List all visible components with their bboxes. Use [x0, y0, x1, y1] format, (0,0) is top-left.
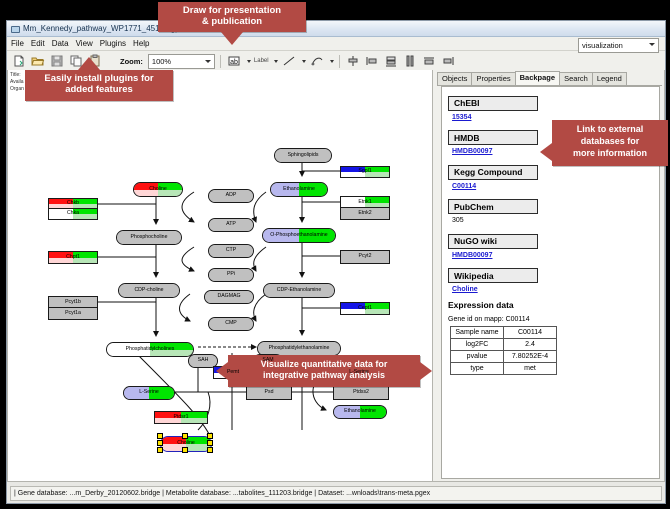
table-cell: type: [451, 363, 504, 375]
node-label: CDP-choline: [134, 288, 163, 293]
new-file-icon[interactable]: [11, 53, 27, 69]
metabolite-node-sphingolipids[interactable]: Sphingolipids: [274, 148, 332, 163]
resize-handle[interactable]: [207, 440, 213, 446]
expression-data-title: Expression data: [448, 300, 659, 310]
chevron-down-icon[interactable]: [274, 60, 278, 63]
zoom-label: Zoom:: [120, 57, 143, 66]
metabolite-node-ethanolamine[interactable]: Ethanolamine: [270, 182, 328, 197]
resize-handle[interactable]: [207, 447, 213, 453]
chevron-down-icon: [649, 43, 655, 46]
node-label: O-Phosphoethanolamine: [270, 233, 327, 238]
node-label: Choline: [177, 441, 195, 446]
node-label: PPi: [227, 272, 235, 277]
node-label: SAM: [262, 358, 273, 363]
open-folder-icon[interactable]: [30, 53, 46, 69]
node-label: Pcyt1a: [65, 311, 81, 316]
metabolite-node-choline[interactable]: Choline: [133, 182, 183, 197]
table-cell: 2.4: [504, 339, 557, 351]
align-right-icon[interactable]: [440, 53, 456, 69]
metabolite-node-phosphatidylcholines[interactable]: Phosphatidylcholines: [106, 342, 194, 357]
chevron-down-icon: [205, 60, 211, 63]
callout-draw-arrow: [221, 32, 243, 45]
tab-search[interactable]: Search: [559, 72, 593, 86]
status-bar: | Gene database: ...m_Derby_20120602.bri…: [7, 483, 665, 503]
metabolite-node-cmp[interactable]: CMP: [208, 317, 254, 331]
callout-link-line1: Link to external: [577, 124, 644, 134]
callout-plugins-line2: added features: [65, 84, 133, 95]
backpage-value-3: 305: [452, 217, 659, 224]
callout-draw-line2: & publication: [202, 16, 262, 27]
table-cell: 7.80252E-4: [504, 351, 557, 363]
info-title-label: Title:: [10, 72, 24, 79]
callout-plugins: Easily install plugins for added feature…: [25, 70, 173, 101]
metabolite-node-ppi[interactable]: PPi: [208, 268, 254, 282]
tab-backpage[interactable]: Backpage: [515, 71, 560, 86]
text-box-icon[interactable]: ab: [226, 53, 242, 69]
status-text: | Gene database: ...m_Derby_20120602.bri…: [10, 486, 662, 501]
metabolite-node-ctp[interactable]: CTP: [208, 244, 254, 258]
callout-draw: Draw for presentation & publication: [158, 2, 306, 32]
resize-handle[interactable]: [157, 433, 163, 439]
gene-node-psd[interactable]: Psd: [246, 386, 292, 400]
tab-properties[interactable]: Properties: [471, 72, 515, 86]
save-icon[interactable]: [49, 53, 65, 69]
svg-text:ab: ab: [230, 59, 238, 66]
metabolite-node-atp[interactable]: ATP: [208, 218, 254, 232]
gene-node-pcyt1a[interactable]: Pcyt1a: [48, 307, 98, 320]
node-label: DAGMAG: [217, 294, 240, 299]
callout-visualize-line1: Visualize quantitative data for: [261, 359, 388, 369]
metabolite-node-ethanolamine[interactable]: Ethanolamine: [333, 405, 387, 419]
resize-handle[interactable]: [182, 447, 188, 453]
gene-node-cept1[interactable]: Cept1: [340, 302, 390, 315]
node-label: L-Serine: [349, 370, 369, 375]
gene-node-etnk2[interactable]: Etnk2: [340, 207, 390, 220]
menu-item-view[interactable]: View: [76, 39, 93, 48]
node-label: Etnk1: [358, 200, 371, 205]
metabolite-node-adp[interactable]: ADP: [208, 189, 254, 203]
screenshot-root: Mm_Kennedy_pathway_WP1771_45176.gpml Fil…: [0, 0, 670, 509]
callout-link-line3: more information: [573, 148, 647, 158]
backpage-header-wikipedia: Wikipedia: [448, 268, 538, 283]
gene-node-sgpl1[interactable]: Sgpl1: [340, 166, 390, 178]
metabolite-node-phosphocholine[interactable]: Phosphocholine: [116, 230, 182, 245]
toolbar-separator: [220, 55, 221, 68]
backpage-link-5[interactable]: Choline: [452, 286, 659, 293]
info-available-label: Availa: [10, 79, 24, 86]
gene-node-chpt1[interactable]: Chpt1: [48, 251, 98, 264]
resize-handle[interactable]: [157, 440, 163, 446]
info-organism-label: Organ: [10, 86, 24, 93]
arc-icon[interactable]: [309, 53, 325, 69]
table-row: log2FC2.4: [451, 339, 557, 351]
menu-item-edit[interactable]: Edit: [31, 39, 45, 48]
metabolite-node-dagmag[interactable]: DAGMAG: [204, 290, 254, 304]
node-label: Pemt: [227, 370, 239, 375]
node-label: Choline: [149, 187, 167, 192]
node-label: Pcyt2: [359, 254, 372, 259]
table-cell: met: [504, 363, 557, 375]
callout-visualize-arrow-right: [420, 362, 432, 380]
backpage-header-hmdb: HMDB: [448, 130, 538, 145]
backpage-link-2[interactable]: C00114: [452, 183, 659, 190]
menu-item-plugins[interactable]: Plugins: [100, 39, 126, 48]
menu-item-file[interactable]: File: [11, 39, 24, 48]
label-tool-label: Label: [254, 58, 269, 64]
node-label: Phosphatidylcholines: [126, 347, 175, 352]
backpage-header-nugo-wiki: NuGO wiki: [448, 234, 538, 249]
callout-plugins-line1: Easily install plugins for: [44, 73, 153, 84]
callout-visualize: Visualize quantitative data for integrat…: [228, 355, 420, 387]
backpage-header-kegg-compound: Kegg Compound: [448, 165, 538, 180]
node-label: SAH: [198, 358, 209, 363]
callout-plugins-arrow: [78, 57, 100, 70]
node-label: Chkb: [67, 201, 79, 206]
table-row: pvalue7.80252E-4: [451, 351, 557, 363]
gene-node-ptdss2[interactable]: Ptdss2: [333, 386, 389, 400]
chevron-down-icon[interactable]: [330, 60, 334, 63]
backpage-header-chebi: ChEBI: [448, 96, 538, 111]
node-label: Chka: [67, 211, 79, 216]
zoom-value: 100%: [152, 57, 171, 66]
metabolite-node-l-serine[interactable]: L-Serine: [123, 386, 175, 400]
callout-link-arrow: [540, 143, 552, 161]
callout-link-line2: databases for: [581, 136, 640, 146]
node-label: Ptdss2: [353, 390, 369, 395]
toolbar-separator: [339, 55, 340, 68]
align-bottom-icon[interactable]: [383, 53, 399, 69]
align-left-icon[interactable]: [364, 53, 380, 69]
tab-legend[interactable]: Legend: [592, 72, 627, 86]
node-label: Phosphatidylethanolamine: [269, 346, 330, 351]
node-label: Ptdsr1: [174, 415, 189, 420]
node-label: Sgpl1: [358, 169, 371, 174]
distribute-horizontal-icon[interactable]: [402, 53, 418, 69]
tab-objects[interactable]: Objects: [437, 72, 472, 86]
node-label: Ethanolamine: [283, 187, 315, 192]
menu-item-data[interactable]: Data: [52, 39, 69, 48]
node-label: CTP: [226, 248, 236, 253]
node-label: L-Serine: [139, 390, 159, 395]
node-label: Etnk2: [358, 211, 371, 216]
table-cell: pvalue: [451, 351, 504, 363]
line-icon[interactable]: [281, 53, 297, 69]
node-label: Cept1: [358, 306, 372, 311]
resize-handle[interactable]: [157, 447, 163, 453]
menu-bar: File Edit Data View Plugins Help: [7, 37, 665, 51]
node-label: Phosphocholine: [131, 235, 168, 240]
gene-id-line: Gene id on mapp: C00114: [448, 316, 659, 323]
node-label: CMP: [225, 321, 237, 326]
node-label: Sphingolipids: [288, 153, 319, 158]
node-label: Pcyt1b: [65, 300, 81, 305]
gene-node-ptdsr1[interactable]: Ptdsr1: [154, 411, 208, 424]
resize-handle[interactable]: [207, 433, 213, 439]
callout-link: Link to external databases for more info…: [552, 120, 668, 166]
chevron-down-icon[interactable]: [247, 60, 251, 63]
node-label: CDP-Ethanolamine: [277, 288, 321, 293]
table-row: Sample nameC00114: [451, 327, 557, 339]
title-bar: Mm_Kennedy_pathway_WP1771_45176.gpml: [7, 21, 665, 37]
table-cell: log2FC: [451, 339, 504, 351]
node-label: ATP: [226, 222, 236, 227]
table-row: typemet: [451, 363, 557, 375]
pathway-info-labels: Title: Availa Organ: [10, 72, 24, 93]
table-cell: Sample name: [451, 327, 504, 339]
metabolite-node-cdp-choline[interactable]: CDP-choline: [118, 283, 180, 298]
toolbar: Zoom: 100% ab Label: [7, 51, 665, 72]
metabolite-node-o-phosphoethanolamine[interactable]: O-Phosphoethanolamine: [262, 228, 336, 243]
menu-item-help[interactable]: Help: [133, 39, 149, 48]
pathway-canvas[interactable]: Title: Availa Organ: [7, 70, 433, 482]
backpage-header-pubchem: PubChem: [448, 199, 538, 214]
node-label: Psd: [265, 390, 274, 395]
node-label: Chpt1: [66, 255, 80, 260]
expression-table: Sample nameC00114log2FC2.4pvalue7.80252E…: [450, 326, 557, 375]
visualization-combobox[interactable]: visualization: [578, 38, 659, 53]
backpage-link-4[interactable]: HMDB00097: [452, 252, 659, 259]
zoom-combobox[interactable]: 100%: [148, 54, 215, 69]
align-center-icon[interactable]: [421, 53, 437, 69]
visualization-value: visualization: [582, 41, 623, 50]
node-label: Ethanolamine: [344, 409, 376, 414]
metabolite-node-cdp-ethanolamine[interactable]: CDP-Ethanolamine: [263, 283, 335, 298]
gene-node-chka[interactable]: Chka: [48, 208, 98, 220]
gene-node-pcyt2[interactable]: Pcyt2: [340, 250, 390, 264]
side-tab-strip: Objects Properties Backpage Search Legen…: [437, 72, 662, 85]
table-cell: C00114: [504, 327, 557, 339]
node-label: ADP: [226, 193, 237, 198]
chevron-down-icon[interactable]: [302, 60, 306, 63]
callout-draw-line1: Draw for presentation: [183, 5, 281, 16]
resize-handle[interactable]: [182, 433, 188, 439]
align-top-icon[interactable]: [345, 53, 361, 69]
app-icon: [10, 24, 19, 33]
